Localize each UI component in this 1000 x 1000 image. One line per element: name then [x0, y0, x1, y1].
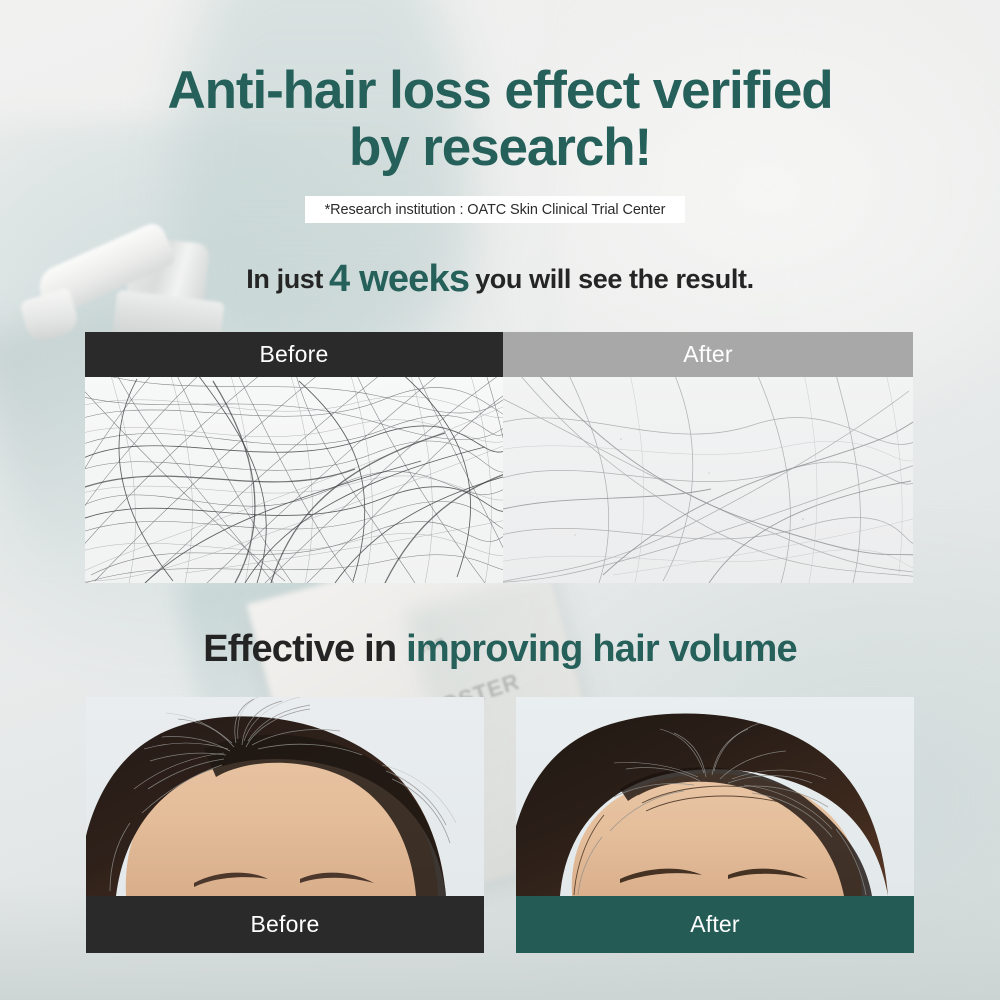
- hair-volume-before-label-text: Before: [251, 911, 320, 938]
- subheadline: In just4 weeksyou will see the result.: [0, 258, 1000, 301]
- forehead-photo-after: [516, 697, 914, 896]
- hair-volume-after-card: After: [516, 697, 914, 953]
- hair-volume-after-label: After: [516, 896, 914, 953]
- headline-line-1: Anti-hair loss effect verified: [167, 61, 832, 120]
- hair-fall-label-bars: Before After: [85, 332, 913, 377]
- hair-volume-after-photo: [516, 697, 914, 896]
- headline2-prefix: Effective in: [203, 628, 396, 670]
- headline2-highlight: improving hair volume: [406, 628, 797, 670]
- hair-fall-before-label-text: Before: [260, 341, 329, 368]
- hair-fall-before-label: Before: [85, 332, 503, 377]
- research-institution-badge: *Research institution : OATC Skin Clinic…: [305, 196, 685, 223]
- subheadline-prefix: In just: [246, 264, 323, 294]
- research-institution-text: *Research institution : OATC Skin Clinic…: [325, 202, 666, 218]
- section-title-volume: Effective in improving hair volume: [0, 628, 1000, 671]
- headline-line-2: by research!: [0, 119, 1000, 176]
- hair-fall-before-image: [85, 377, 503, 583]
- hair-fall-after-label-text: After: [683, 341, 733, 368]
- hair-volume-comparison: Before: [86, 697, 913, 953]
- hair-fall-after-image: [503, 377, 913, 583]
- forehead-photo-before: [86, 697, 484, 896]
- hair-volume-after-label-text: After: [690, 911, 740, 938]
- hair-fall-comparison: Before After: [85, 332, 913, 583]
- hair-volume-before-card: Before: [86, 697, 484, 953]
- hair-fall-images: [85, 377, 913, 583]
- hair-volume-before-photo: [86, 697, 484, 896]
- hair-strands-sparse: [503, 377, 913, 583]
- hair-volume-before-label: Before: [86, 896, 484, 953]
- hair-strands-dense: [85, 377, 503, 583]
- page-title: Anti-hair loss effect verified by resear…: [0, 62, 1000, 176]
- subheadline-suffix: you will see the result.: [475, 264, 754, 294]
- promo-page: BOOSTER ion DDED fl. oz Anti-hair loss e…: [0, 0, 1000, 1000]
- subheadline-highlight: 4 weeks: [323, 258, 475, 300]
- hair-fall-after-label: After: [503, 332, 913, 377]
